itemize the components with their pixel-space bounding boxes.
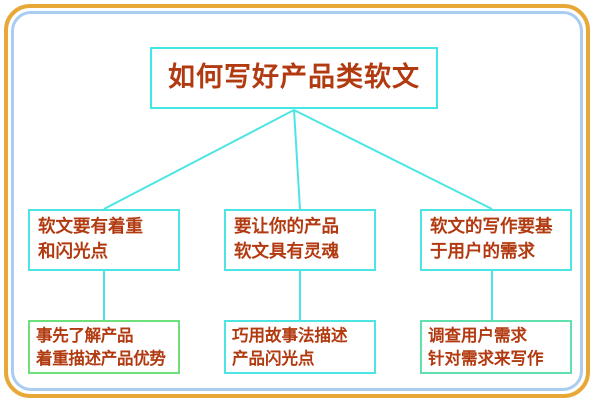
node-branch-1-mid-line1: 软文要有着重 — [38, 215, 178, 240]
node-branch-2-leaf-line1: 巧用故事法描述 — [232, 324, 374, 347]
node-branch-2-mid[interactable]: 要让你的产品 软文具有灵魂 — [224, 209, 376, 271]
node-root-title[interactable]: 如何写好产品类软文 — [150, 47, 438, 109]
node-branch-1-leaf-line2: 着重描述产品优势 — [36, 347, 178, 370]
node-branch-3-mid-line2: 于用户的需求 — [430, 240, 570, 265]
node-branch-3-mid-line1: 软文的写作要基 — [430, 215, 570, 240]
node-branch-2-leaf[interactable]: 巧用故事法描述 产品闪光点 — [224, 320, 376, 374]
node-branch-1-leaf[interactable]: 事先了解产品 着重描述产品优势 — [28, 320, 180, 374]
node-branch-1-leaf-line1: 事先了解产品 — [36, 324, 178, 347]
node-branch-2-leaf-line2: 产品闪光点 — [232, 347, 374, 370]
node-branch-1-mid[interactable]: 软文要有着重 和闪光点 — [28, 209, 180, 271]
node-branch-2-mid-line1: 要让你的产品 — [234, 215, 374, 240]
node-branch-3-leaf-line2: 针对需求来写作 — [428, 347, 570, 370]
node-branch-3-leaf[interactable]: 调查用户需求 针对需求来写作 — [420, 320, 572, 374]
node-root-title-text: 如何写好产品类软文 — [168, 63, 420, 93]
diagram-canvas: 如何写好产品类软文 软文要有着重 和闪光点 要让你的产品 软文具有灵魂 软文的写… — [0, 0, 600, 408]
node-branch-3-mid[interactable]: 软文的写作要基 于用户的需求 — [420, 209, 572, 271]
node-branch-3-leaf-line1: 调查用户需求 — [428, 324, 570, 347]
node-branch-1-mid-line2: 和闪光点 — [38, 240, 178, 265]
node-branch-2-mid-line2: 软文具有灵魂 — [234, 240, 374, 265]
